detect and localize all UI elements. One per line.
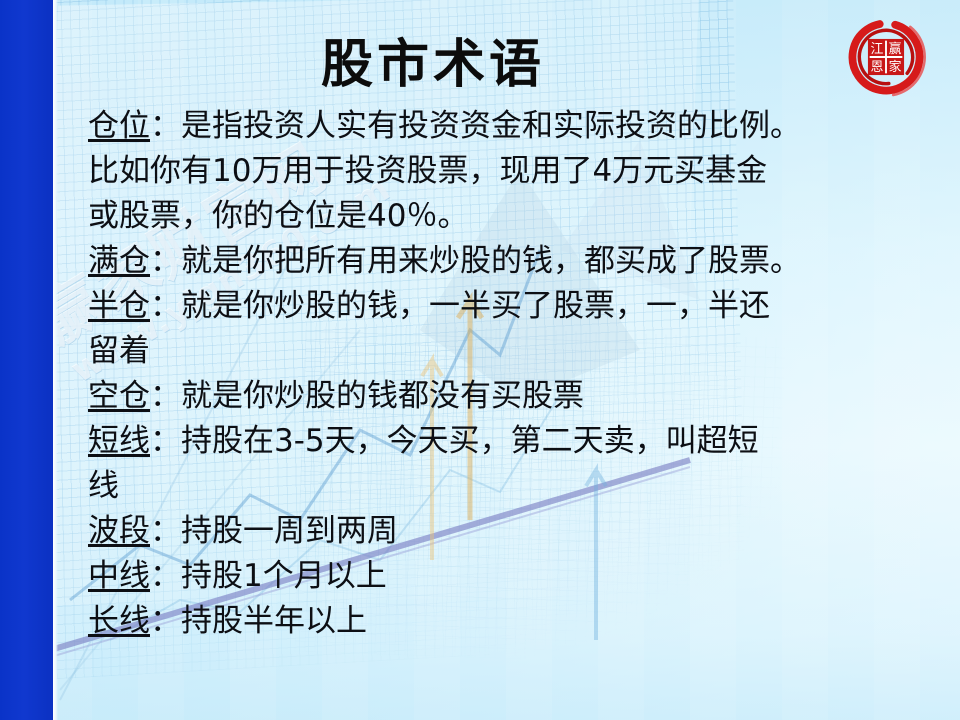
seal-char-1: 江 [871, 42, 884, 57]
glossary-separator: ： [150, 513, 181, 549]
seal-char-2: 赢 [889, 41, 902, 57]
glossary-entry: 仓位：是指投资人实有投资资金和实际投资的比例。 [88, 104, 948, 149]
glossary-separator: ： [150, 108, 181, 144]
glossary-continuation: 或股票，你的仓位是40％。 [88, 194, 948, 239]
glossary-entry: 满仓：就是你把所有用来炒股的钱，都买成了股票。 [88, 239, 948, 284]
glossary-entry: 波段：持股一周到两周 [88, 509, 948, 554]
left-banner [0, 0, 53, 720]
glossary-definition: 持股半年以上 [181, 603, 367, 639]
seal-char-4: 家 [889, 59, 902, 75]
brand-seal-logo: 江 赢 恩 家 [843, 14, 929, 100]
slide-canvas: 赢家财富网 www.yjgn360.com 选 择 赢 家 江 恩 走 进 财 … [0, 0, 960, 720]
glossary-term: 满仓 [88, 243, 150, 279]
glossary-definition: 持股在3-5天，今天买，第二天卖，叫超短 [181, 423, 759, 459]
glossary-separator: ： [150, 288, 181, 324]
glossary-definition: 持股1个月以上 [181, 558, 387, 594]
glossary-definition: 就是你炒股的钱都没有买股票 [181, 378, 584, 414]
glossary-separator: ： [150, 378, 181, 414]
glossary-separator: ： [150, 603, 181, 639]
glossary-entry: 短线：持股在3-5天，今天买，第二天卖，叫超短 [88, 419, 948, 464]
glossary-term: 空仓 [88, 378, 150, 414]
glossary-term: 长线 [88, 603, 150, 639]
seal-char-3: 恩 [871, 60, 884, 75]
glossary-list: 仓位：是指投资人实有投资资金和实际投资的比例。 比如你有10万用于投资股票，现用… [88, 104, 948, 644]
glossary-entry: 空仓：就是你炒股的钱都没有买股票 [88, 374, 948, 419]
glossary-separator: ： [150, 243, 181, 279]
left-banner-edge [53, 0, 58, 720]
glossary-term: 中线 [88, 558, 150, 594]
page-title: 股市术语 [53, 22, 813, 97]
glossary-entry: 中线：持股1个月以上 [88, 554, 948, 599]
glossary-term: 仓位 [88, 108, 150, 144]
glossary-term: 半仓 [88, 288, 150, 324]
glossary-definition: 是指投资人实有投资资金和实际投资的比例。 [181, 108, 801, 144]
glossary-separator: ： [150, 558, 181, 594]
glossary-separator: ： [150, 423, 181, 459]
glossary-continuation: 比如你有10万用于投资股票，现用了4万元买基金 [88, 149, 948, 194]
glossary-definition: 持股一周到两周 [181, 513, 398, 549]
glossary-term: 短线 [88, 423, 150, 459]
glossary-continuation: 线 [88, 464, 948, 509]
glossary-entry: 长线：持股半年以上 [88, 599, 948, 644]
glossary-definition: 就是你炒股的钱，一半买了股票，一，半还 [181, 288, 770, 324]
glossary-entry: 半仓：就是你炒股的钱，一半买了股票，一，半还 [88, 284, 948, 329]
glossary-continuation: 留着 [88, 329, 948, 374]
glossary-definition: 就是你把所有用来炒股的钱，都买成了股票。 [181, 243, 801, 279]
glossary-term: 波段 [88, 513, 150, 549]
